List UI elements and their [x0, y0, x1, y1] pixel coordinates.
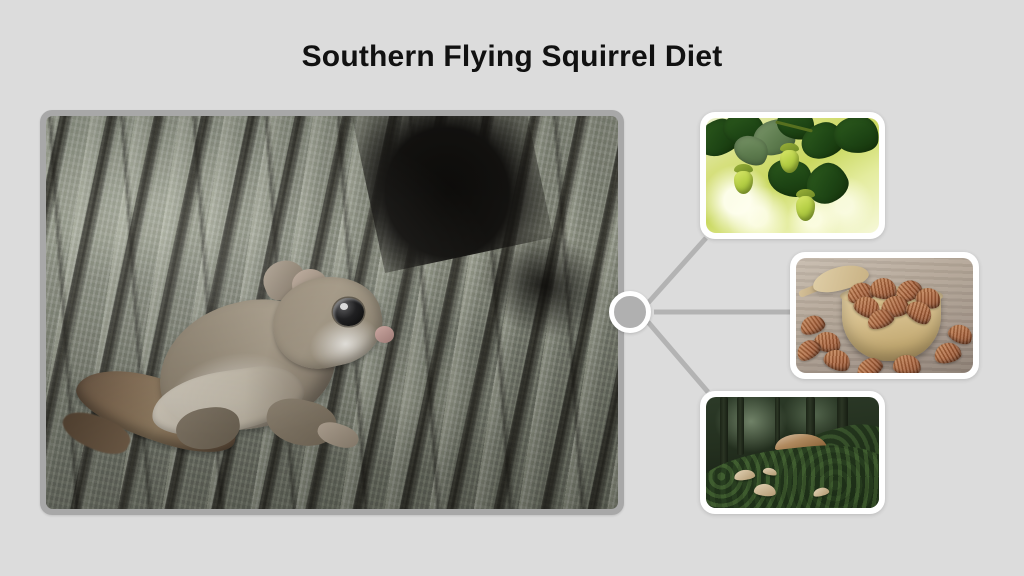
center-node[interactable] — [609, 291, 651, 333]
tree-trunk — [720, 397, 729, 466]
acorn-image — [706, 118, 879, 233]
diagram-stage: Southern Flying Squirrel Diet — [0, 0, 1024, 576]
mushroom-thumbnail[interactable] — [700, 391, 885, 514]
connector-to-acorns — [648, 238, 706, 303]
tree-trunk — [737, 397, 744, 455]
pecan-thumbnail[interactable] — [790, 252, 979, 379]
acorn-thumbnail[interactable] — [700, 112, 885, 239]
connector-to-fungi — [648, 322, 708, 392]
acorn — [734, 171, 753, 194]
pecan-image — [796, 258, 973, 373]
mushroom-image — [706, 397, 879, 508]
